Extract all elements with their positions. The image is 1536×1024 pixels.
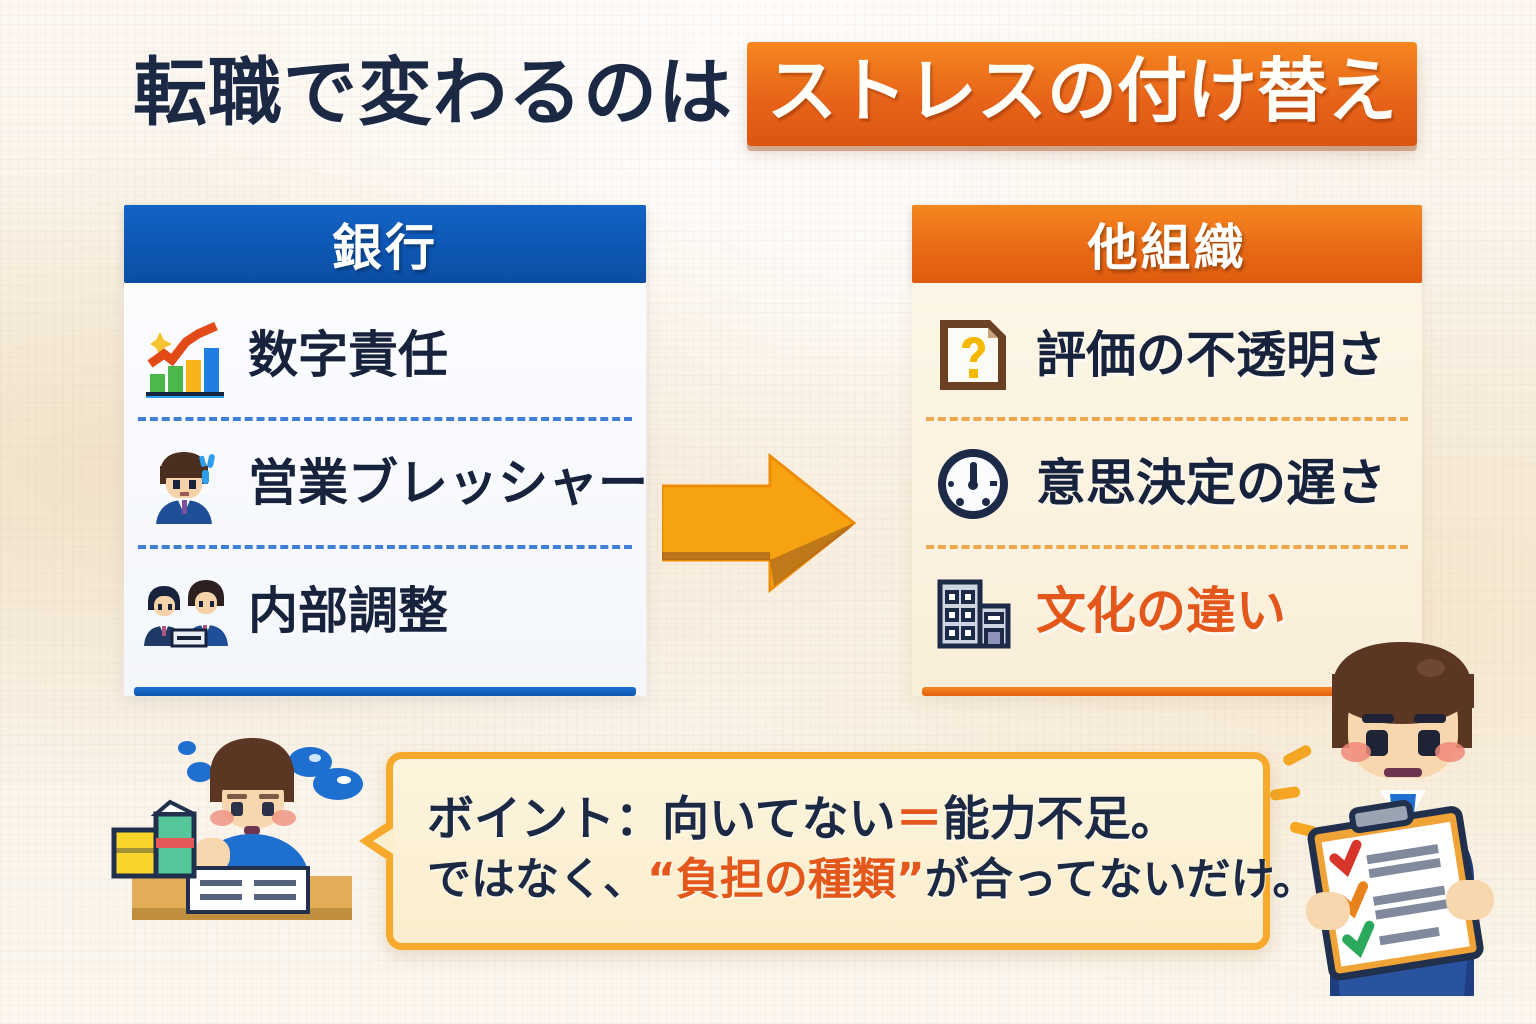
office-building-icon bbox=[930, 568, 1016, 654]
panel-other-org-header: 他組織 bbox=[912, 205, 1422, 283]
two-people-icon bbox=[142, 568, 228, 654]
list-item-label: 数字責任 bbox=[248, 330, 448, 380]
businessman-with-clipboard-icon bbox=[1268, 640, 1536, 996]
callout-box: ボイント：向いてない＝能力不足。 ではなく、“負担の種類”が合ってないだけ。 bbox=[386, 752, 1270, 950]
list-item-label: 文化の違い bbox=[1036, 586, 1286, 636]
panel-other-org-body: 評価の不透明さ 意思決定の遅さ bbox=[912, 283, 1422, 696]
tired-worker-at-desk-icon bbox=[92, 726, 392, 956]
question-document-icon bbox=[930, 312, 1016, 398]
panel-other-org: 他組織 評価の不透明さ bbox=[912, 205, 1422, 696]
panel-bank-body: 数字責任 営業ブレッシャー bbox=[124, 283, 646, 696]
panel-bank: 銀行 数字責任 bbox=[124, 205, 646, 696]
stressed-worker-icon bbox=[142, 440, 228, 526]
title-badge: ストレスの付け替え bbox=[747, 42, 1417, 146]
callout-line2-accent: “負担の種類” bbox=[647, 854, 925, 905]
list-item[interactable]: 内部調整 bbox=[124, 549, 646, 673]
page-title: 転職で変わるのは bbox=[119, 52, 747, 140]
panel-bank-header: 銀行 bbox=[124, 205, 646, 283]
panel-bank-baseline bbox=[134, 687, 636, 696]
list-item[interactable]: 評価の不透明さ bbox=[912, 293, 1422, 417]
right-arrow-icon bbox=[662, 452, 858, 594]
list-item[interactable]: 営業ブレッシャー bbox=[124, 421, 646, 545]
bar-chart-icon bbox=[142, 312, 228, 398]
callout-line2-part-b: が合ってないだけ。 bbox=[925, 854, 1317, 905]
callout-tail-inner bbox=[373, 827, 395, 855]
callout-line1-part-a: ボイント：向いてない bbox=[427, 792, 896, 847]
clock-icon bbox=[930, 440, 1016, 526]
title-row: 転職で変わるのは ストレスの付け替え bbox=[0, 44, 1536, 148]
page-title-text: 転職で変わるのは bbox=[133, 50, 733, 136]
list-item[interactable]: 数字責任 bbox=[124, 293, 646, 417]
list-item-label: 評価の不透明さ bbox=[1036, 330, 1386, 380]
list-item-label: 営業ブレッシャー bbox=[248, 458, 648, 508]
list-item-label: 内部調整 bbox=[248, 586, 448, 636]
callout-equals-sign: ＝ bbox=[896, 792, 943, 847]
callout-line-1: ボイント：向いてない＝能力不足。 bbox=[427, 795, 1237, 846]
callout-line2-part-a: ではなく、 bbox=[427, 854, 647, 905]
list-item[interactable]: 意思決定の遅さ bbox=[912, 421, 1422, 545]
callout-line-2: ではなく、“負担の種類”が合ってないだけ。 bbox=[427, 856, 1237, 904]
list-item-label: 意思決定の遅さ bbox=[1036, 458, 1386, 508]
callout-line1-part-b: 能力不足。 bbox=[943, 792, 1178, 847]
